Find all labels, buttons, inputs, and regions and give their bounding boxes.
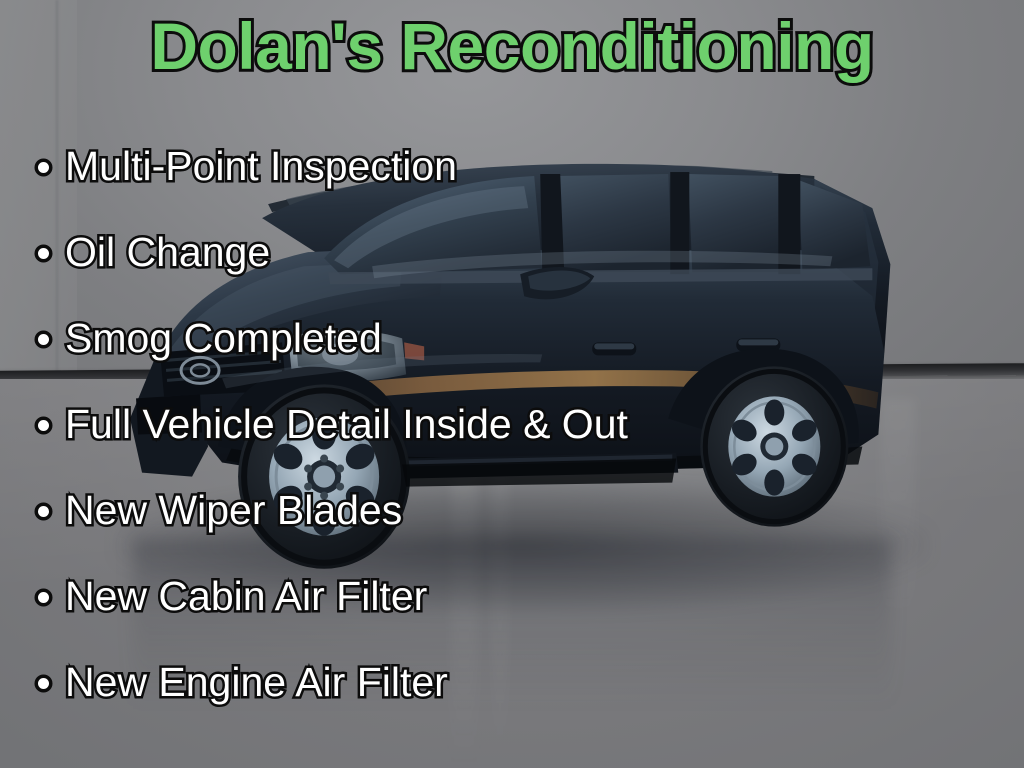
list-item: Smog Completed bbox=[34, 296, 894, 382]
bullet-dot-icon bbox=[38, 506, 49, 517]
bullet-dot-icon bbox=[38, 248, 49, 259]
list-item-label: New Cabin Air Filter bbox=[65, 575, 427, 618]
list-item: Oil Change bbox=[34, 210, 894, 296]
list-item: Multi-Point Inspection bbox=[34, 124, 894, 210]
list-item-label: Multi-Point Inspection bbox=[65, 145, 457, 188]
bullet-dot-icon bbox=[38, 162, 49, 173]
list-item: New Engine Air Filter bbox=[34, 640, 894, 726]
slide-canvas: Dolan's Reconditioning Multi-Point Inspe… bbox=[0, 0, 1024, 768]
list-item: New Cabin Air Filter bbox=[34, 554, 894, 640]
list-item-label: Smog Completed bbox=[65, 317, 382, 360]
bullet-dot-icon bbox=[38, 334, 49, 345]
bullet-dot-icon bbox=[38, 420, 49, 431]
list-item-label: New Wiper Blades bbox=[65, 489, 402, 532]
list-item: Full Vehicle Detail Inside & Out bbox=[34, 382, 894, 468]
service-list: Multi-Point Inspection Oil Change Smog C… bbox=[34, 124, 894, 726]
page-title: Dolan's Reconditioning bbox=[0, 8, 1024, 84]
list-item: New Wiper Blades bbox=[34, 468, 894, 554]
list-item-label: New Engine Air Filter bbox=[65, 661, 448, 704]
bullet-dot-icon bbox=[38, 678, 49, 689]
list-item-label: Oil Change bbox=[65, 231, 270, 274]
bullet-dot-icon bbox=[38, 592, 49, 603]
list-item-label: Full Vehicle Detail Inside & Out bbox=[65, 403, 628, 446]
